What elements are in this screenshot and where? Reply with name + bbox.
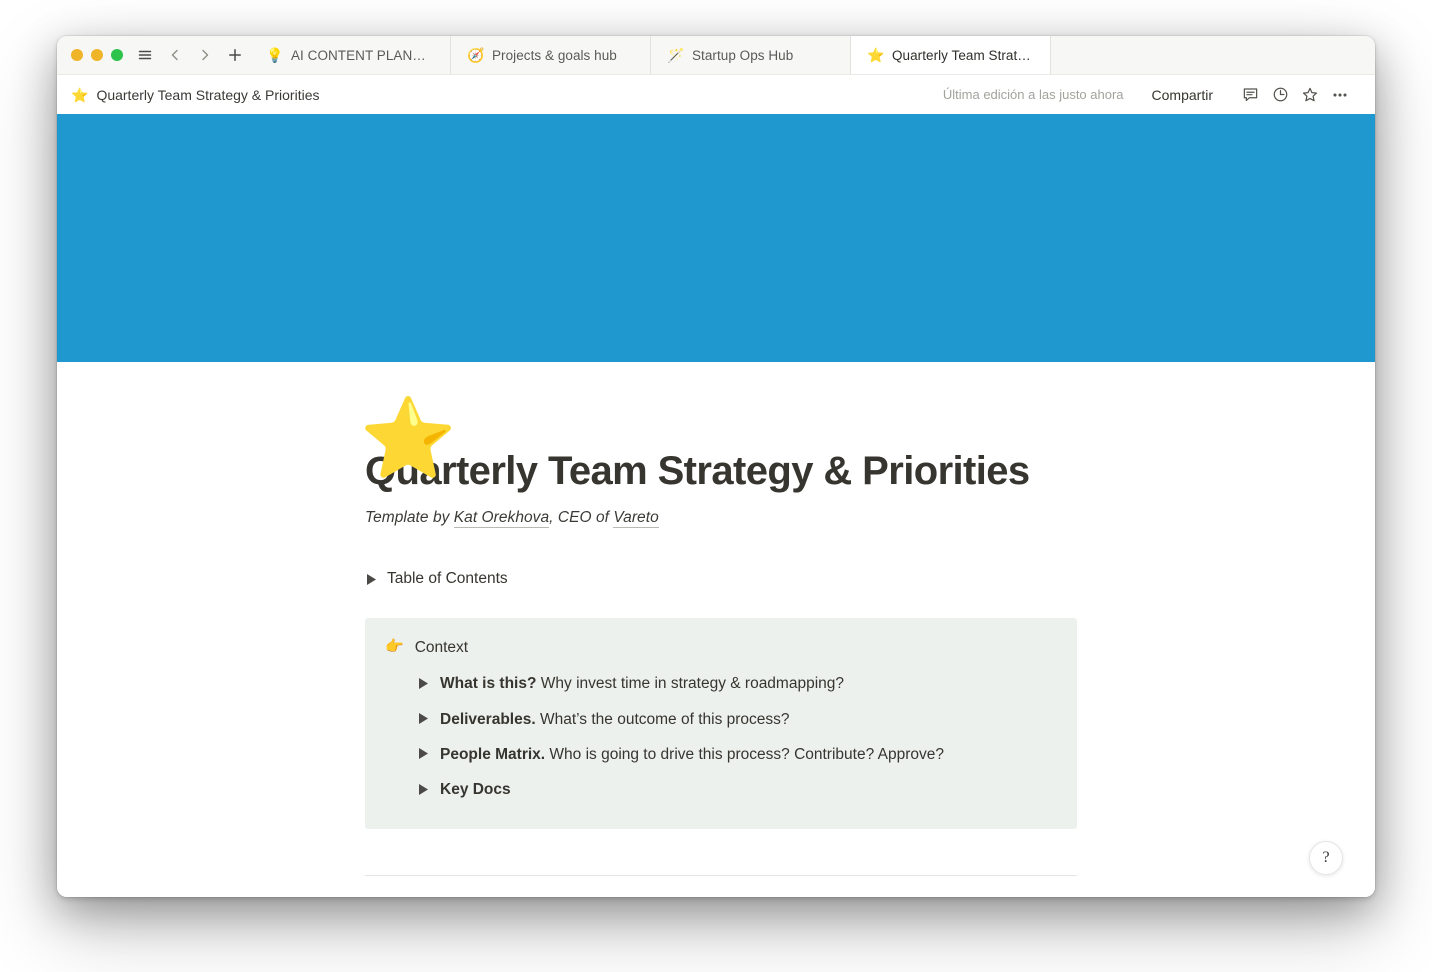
toggle-item-key-docs[interactable]: Key Docs	[417, 772, 1057, 807]
collapsed-triangle-icon[interactable]	[365, 573, 377, 585]
tab-strip-empty-area	[1050, 36, 1375, 74]
toggle-item-text: Deliverables. What’s the outcome of this…	[440, 708, 790, 731]
window-traffic-lights	[57, 36, 132, 74]
compass-icon: 🧭	[467, 48, 483, 62]
close-window-button[interactable]	[71, 49, 83, 61]
toggle-item-bold: Deliverables.	[440, 711, 536, 728]
forward-chevron-icon[interactable]	[196, 46, 214, 64]
toggle-item-deliverables[interactable]: Deliverables. What’s the outcome of this…	[417, 702, 1057, 737]
history-clock-icon[interactable]	[1265, 81, 1295, 109]
tab-quarterly-team-strategy[interactable]: ⭐ Quarterly Team Strat…	[850, 36, 1050, 74]
tab-label: Startup Ops Hub	[692, 48, 834, 63]
page-title[interactable]: Quarterly Team Strategy & Priorities	[365, 448, 1375, 495]
new-tab-plus-icon[interactable]	[226, 46, 244, 64]
browser-window: 💡 AI CONTENT PLANNI… 🧭 Projects & goals …	[57, 36, 1375, 897]
toggle-item-text: Key Docs	[440, 778, 511, 801]
page-body: ⭐ Quarterly Team Strategy & Priorities T…	[57, 448, 1375, 897]
toggle-item-bold: What is this?	[440, 675, 536, 692]
toggle-item-what-is-this[interactable]: What is this? Why invest time in strateg…	[417, 666, 1057, 701]
callout-heading: Context	[415, 636, 468, 659]
app-top-bar: ⭐ Quarterly Team Strategy & Priorities Ú…	[57, 75, 1375, 114]
section-divider	[365, 875, 1077, 876]
share-button[interactable]: Compartir	[1146, 83, 1219, 107]
comment-icon[interactable]	[1235, 81, 1265, 109]
toggle-item-rest: What’s the outcome of this process?	[536, 711, 790, 728]
help-button[interactable]: ?	[1309, 841, 1343, 875]
callout-header: 👉 Context	[385, 636, 1057, 659]
table-of-contents-label: Table of Contents	[387, 570, 508, 588]
tab-label: Quarterly Team Strat…	[892, 48, 1034, 63]
page-content: Quarterly Team Strategy & Priorities Tem…	[57, 448, 1375, 897]
byline-middle: , CEO of	[549, 509, 613, 526]
byline: Template by Kat Orekhova, CEO of Vareto	[365, 509, 1375, 527]
desktop-background: 💡 AI CONTENT PLANNI… 🧭 Projects & goals …	[0, 0, 1432, 972]
toggle-item-text: What is this? Why invest time in strateg…	[440, 672, 844, 695]
breadcrumb[interactable]: ⭐ Quarterly Team Strategy & Priorities	[71, 87, 319, 103]
star-icon: ⭐	[867, 48, 883, 62]
hamburger-menu-icon[interactable]	[136, 46, 154, 64]
collapsed-triangle-icon[interactable]	[417, 748, 429, 760]
table-of-contents-toggle[interactable]: Table of Contents	[365, 570, 1375, 588]
page-cover-image[interactable]	[57, 114, 1375, 362]
byline-company-link[interactable]: Vareto	[613, 509, 658, 528]
byline-prefix: Template by	[365, 509, 454, 526]
breadcrumb-star-icon: ⭐	[71, 88, 88, 102]
toggle-item-rest: Why invest time in strategy & roadmappin…	[536, 675, 844, 692]
callout-toggle-list: What is this? Why invest time in strateg…	[385, 666, 1057, 807]
toggle-item-bold: Key Docs	[440, 781, 511, 798]
back-chevron-icon[interactable]	[166, 46, 184, 64]
navigation-controls	[132, 36, 250, 74]
tab-label: Projects & goals hub	[492, 48, 634, 63]
collapsed-triangle-icon[interactable]	[417, 713, 429, 725]
toggle-item-people-matrix[interactable]: People Matrix. Who is going to drive thi…	[417, 737, 1057, 772]
tab-projects-goals-hub[interactable]: 🧭 Projects & goals hub	[450, 36, 650, 74]
document-scroll-area[interactable]: ⭐ Quarterly Team Strategy & Priorities T…	[57, 114, 1375, 897]
breadcrumb-label: Quarterly Team Strategy & Priorities	[96, 87, 319, 103]
tab-label: AI CONTENT PLANNI…	[291, 48, 434, 63]
toggle-item-text: People Matrix. Who is going to drive thi…	[440, 743, 944, 766]
top-bar-actions: Última edición a las justo ahora Compart…	[943, 81, 1355, 109]
favorite-star-icon[interactable]	[1295, 81, 1325, 109]
more-options-icon[interactable]	[1325, 81, 1355, 109]
tab-ai-content-planning[interactable]: 💡 AI CONTENT PLANNI…	[250, 36, 450, 74]
last-edited-label: Última edición a las justo ahora	[943, 87, 1124, 102]
zoom-window-button[interactable]	[111, 49, 123, 61]
tab-startup-ops-hub[interactable]: 🪄 Startup Ops Hub	[650, 36, 850, 74]
tab-list: 💡 AI CONTENT PLANNI… 🧭 Projects & goals …	[250, 36, 1375, 74]
lightbulb-icon: 💡	[266, 48, 282, 62]
toggle-item-bold: People Matrix.	[440, 746, 545, 763]
byline-author-link[interactable]: Kat Orekhova	[454, 509, 549, 528]
collapsed-triangle-icon[interactable]	[417, 677, 429, 689]
page-icon[interactable]: ⭐	[365, 395, 451, 481]
tab-strip: 💡 AI CONTENT PLANNI… 🧭 Projects & goals …	[57, 36, 1375, 75]
minimize-window-button[interactable]	[91, 49, 103, 61]
toggle-item-rest: Who is going to drive this process? Cont…	[545, 746, 944, 763]
pointing-right-icon: 👉	[385, 636, 404, 659]
collapsed-triangle-icon[interactable]	[417, 783, 429, 795]
context-callout[interactable]: 👉 Context What is this? Why invest time …	[365, 618, 1077, 829]
magic-wand-icon: 🪄	[667, 48, 683, 62]
